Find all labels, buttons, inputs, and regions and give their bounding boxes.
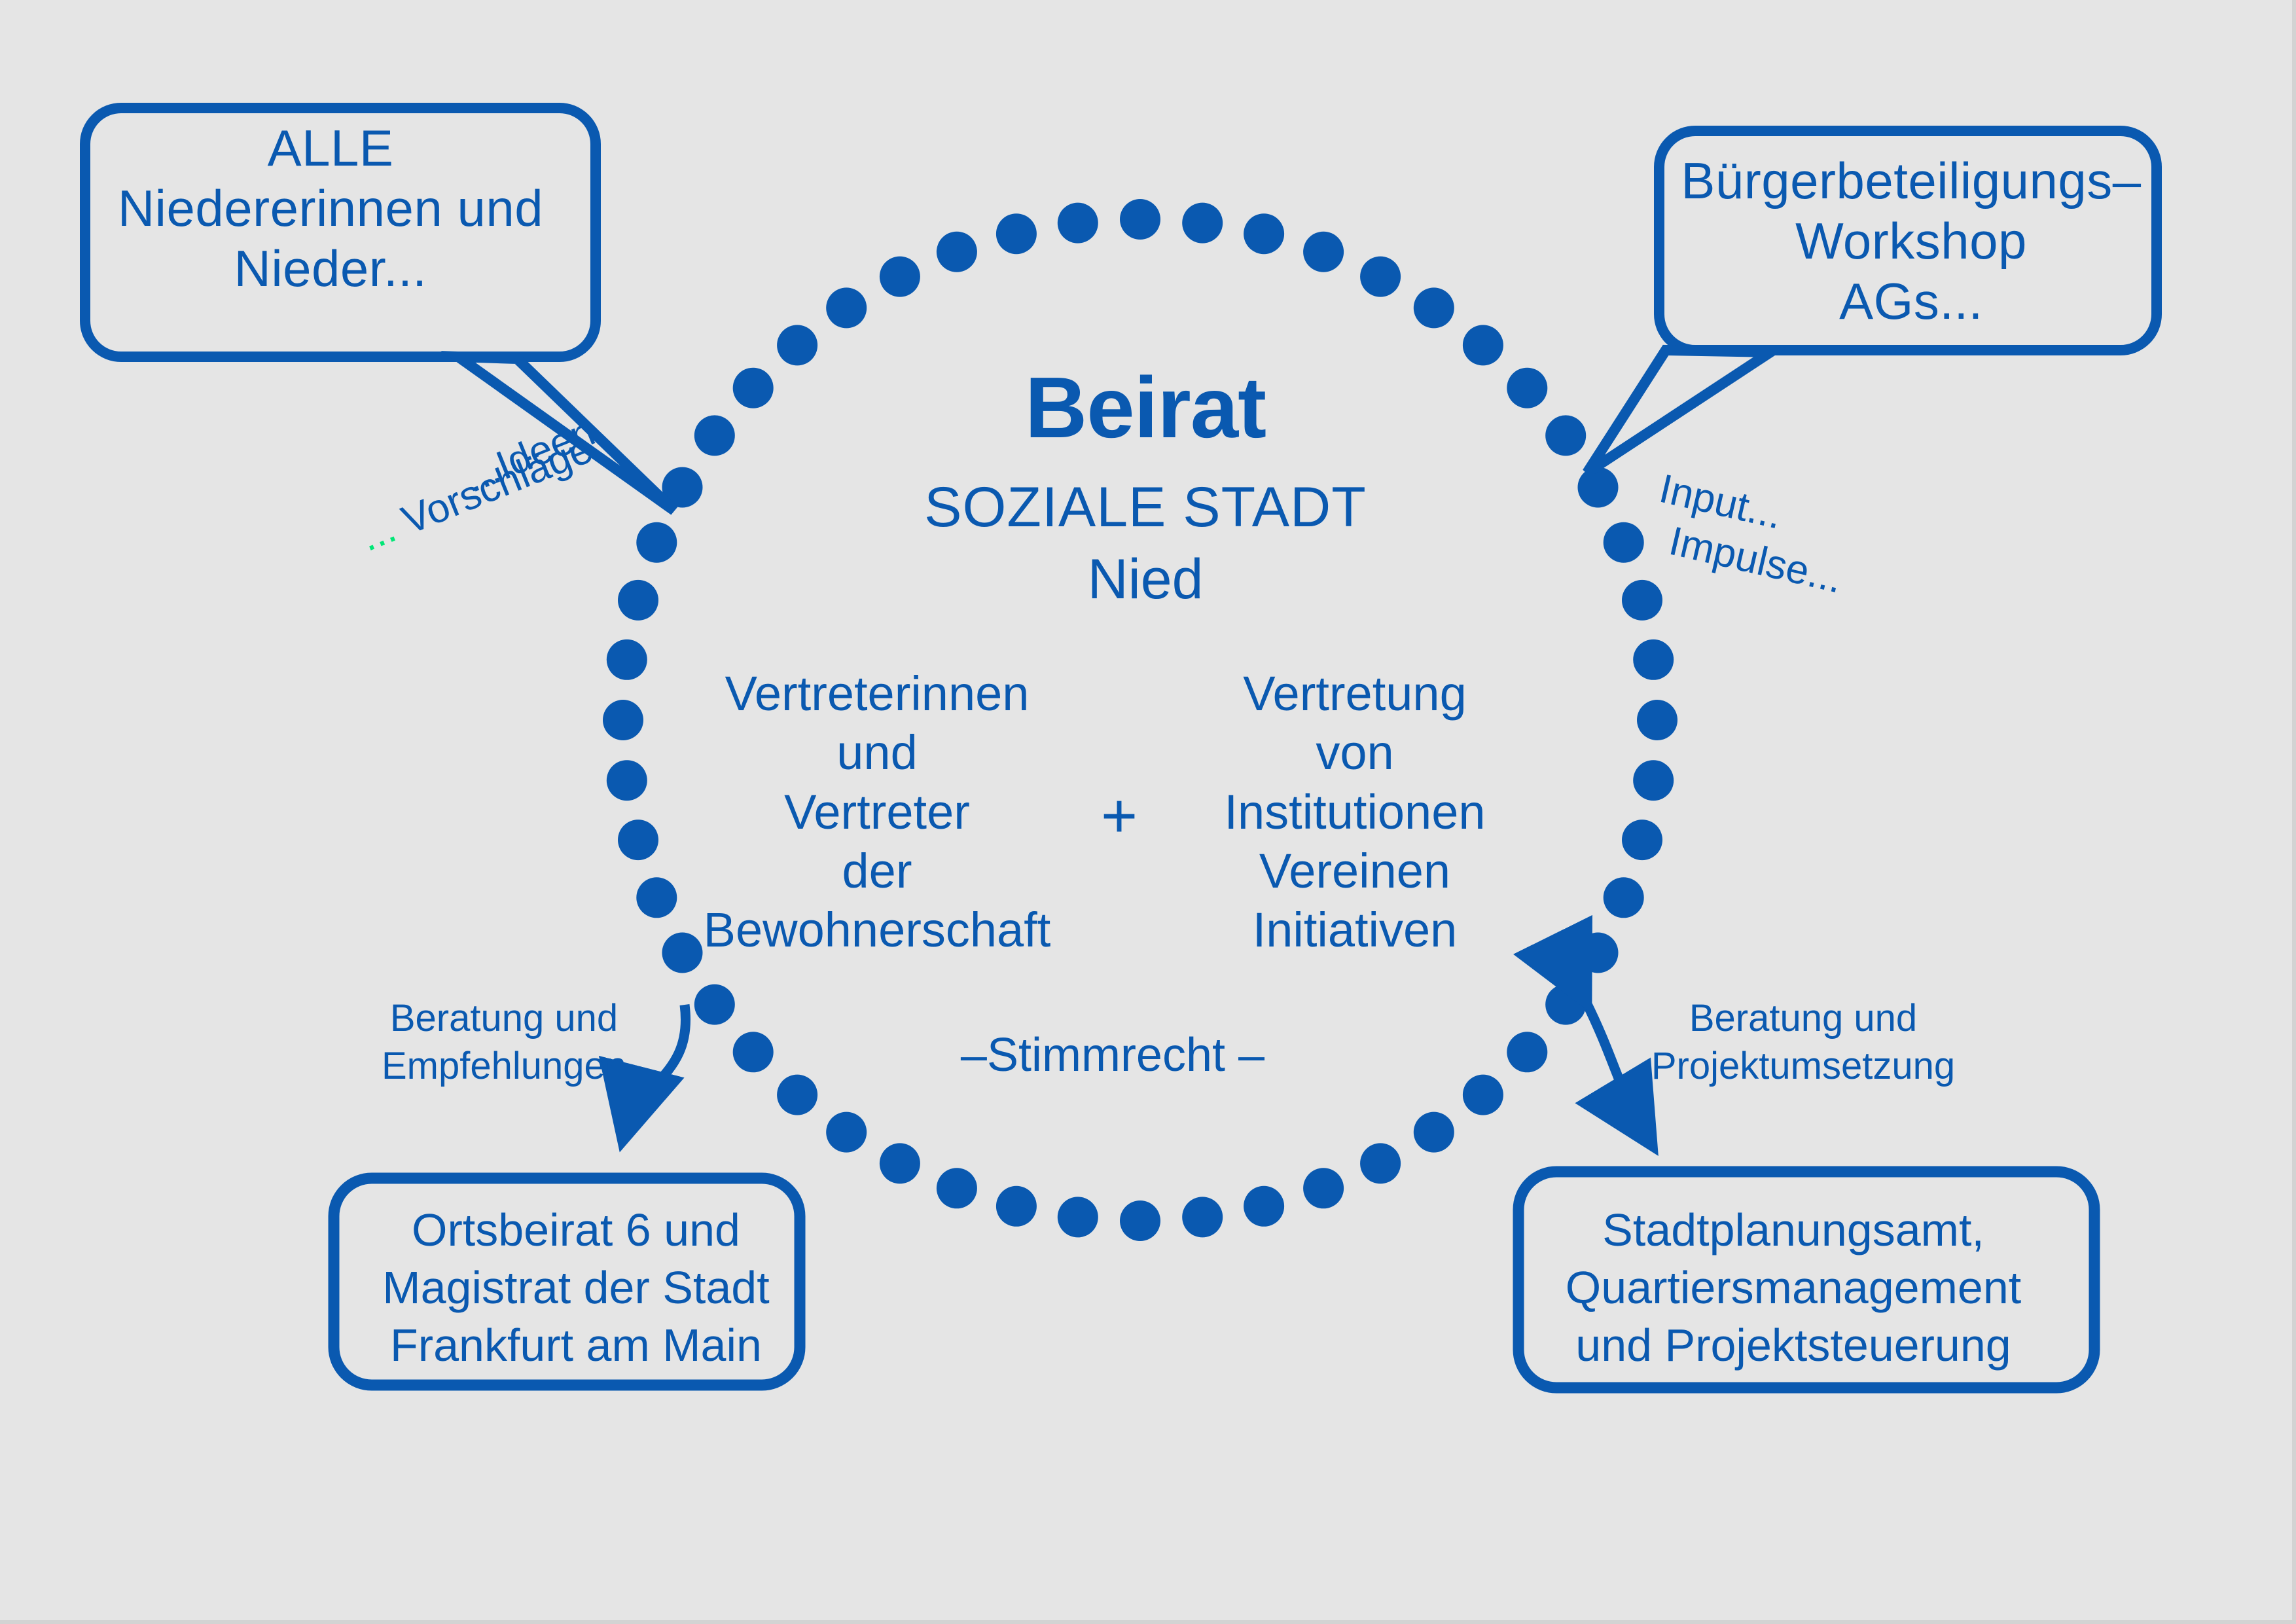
ring-dot <box>1303 1168 1344 1208</box>
ring-dot <box>1633 640 1674 680</box>
box-left-line1: Ortsbeirat 6 und <box>347 1201 805 1259</box>
speech-bubble-right-tail <box>1587 350 1770 473</box>
ring-dot <box>1360 1143 1401 1183</box>
page-title: Beirat <box>772 357 1518 459</box>
ring-dot <box>1120 199 1160 240</box>
bubble-right-line1: Bürgerbeteiligungs– <box>1676 151 2147 211</box>
ring-dot <box>777 1075 817 1115</box>
column-left-line-4: Bewohnerschaft <box>687 901 1067 960</box>
ring-dot <box>733 1032 774 1072</box>
ring-dot <box>1637 700 1677 740</box>
box-left-line2: Magistrat der Stadt <box>347 1259 805 1316</box>
speech-bubble-left-label: ALLE Niedererinnen und Nieder... <box>98 118 563 298</box>
beratung-projekt-line1: Beratung und <box>1649 995 1957 1043</box>
ring-dot <box>880 1143 920 1183</box>
ring-dot <box>1545 984 1586 1025</box>
column-left-line-1: und <box>687 723 1067 782</box>
box-ortsbeirat-label: Ortsbeirat 6 und Magistrat der Stadt Fra… <box>347 1201 805 1375</box>
ring-dot <box>1578 467 1619 508</box>
column-institutionen: Vertretung von Institutionen Vereinen In… <box>1172 664 1538 960</box>
ring-dot <box>1604 877 1644 918</box>
ring-dot <box>694 984 735 1025</box>
subtitle-nied: Nied <box>772 547 1518 613</box>
ring-dot <box>880 257 920 297</box>
ring-dot <box>1058 203 1098 244</box>
beratung-projekt-line2: Projektumsetzung <box>1649 1043 1957 1091</box>
ring-dot <box>1604 522 1644 563</box>
column-left-line-2: Vertreter <box>687 783 1067 842</box>
ring-dot <box>826 287 867 328</box>
beratung-empfehlungen-line2: Empfehlungen <box>367 1043 641 1091</box>
ring-dot <box>1633 760 1674 801</box>
ring-dot <box>1622 580 1662 621</box>
ring-dot <box>1182 203 1223 244</box>
ring-dot <box>603 700 643 740</box>
label-beratung-projektumsetzung: Beratung und Projektumsetzung <box>1649 995 1957 1090</box>
ring-dot <box>1414 1112 1454 1153</box>
ring-dot <box>937 1168 977 1208</box>
box-stadtplanungsamt-label: Stadtplanungsamt, Quartiersmanagement un… <box>1525 1201 2062 1375</box>
ring-dot <box>618 820 658 860</box>
box-right-line2: Quartiersmanagement <box>1525 1259 2062 1316</box>
arrow-beratung-projektumsetzung <box>1586 1001 1651 1144</box>
ring-dot <box>1622 820 1662 860</box>
ring-dot <box>636 877 677 918</box>
bubble-left-line1: ALLE <box>98 118 563 178</box>
ring-dot <box>1303 232 1344 272</box>
column-right-line-1: von <box>1172 723 1538 782</box>
ring-dot <box>1182 1197 1223 1237</box>
label-beratung-empfehlungen: Beratung und Empfehlungen <box>367 995 641 1090</box>
column-left-line-0: Vertreterinnen <box>687 664 1067 723</box>
stimmrecht-note: –Stimmrecht – <box>884 1028 1342 1083</box>
ring-dot <box>1578 933 1619 973</box>
ring-dot <box>694 415 735 456</box>
ring-dot <box>1120 1200 1160 1241</box>
bubble-right-line2: Workshop <box>1676 211 2147 271</box>
bubble-left-line3: Nieder... <box>98 238 563 298</box>
beratung-empfehlungen-line1: Beratung und <box>367 995 641 1043</box>
ring-dot <box>1463 1075 1503 1115</box>
ring-dot <box>1244 213 1284 254</box>
bubble-left-line2: Niedererinnen und <box>98 178 563 238</box>
plus-symbol: + <box>1073 779 1165 853</box>
speech-bubble-right-label: Bürgerbeteiligungs– Workshop AGs... <box>1676 151 2147 331</box>
ring-dot <box>1507 1032 1547 1072</box>
ring-dot <box>826 1112 867 1153</box>
ring-dot <box>1414 287 1454 328</box>
subtitle-soziale-stadt: SOZIALE STADT <box>772 475 1518 541</box>
bubble-right-line3: AGs... <box>1676 271 2147 331</box>
ring-dot <box>607 640 647 680</box>
box-left-line3: Frankfurt am Main <box>347 1316 805 1374</box>
column-right-line-0: Vertretung <box>1172 664 1538 723</box>
column-right-line-3: Vereinen <box>1172 842 1538 901</box>
ring-dot <box>937 232 977 272</box>
ring-dot <box>618 580 658 621</box>
ring-dot <box>1244 1186 1284 1227</box>
column-right-line-4: Initiativen <box>1172 901 1538 960</box>
ring-dot <box>636 522 677 563</box>
column-right-line-2: Institutionen <box>1172 783 1538 842</box>
ring-dot <box>1058 1197 1098 1237</box>
column-left-line-3: der <box>687 842 1067 901</box>
ring-dot <box>1545 415 1586 456</box>
box-right-line3: und Projektsteuerung <box>1525 1316 2062 1374</box>
ring-dot <box>733 368 774 408</box>
diagram-canvas: ALLE Niedererinnen und Nieder... Bürgerb… <box>0 0 2296 1624</box>
ring-dot <box>996 1186 1037 1227</box>
ring-dot <box>1360 257 1401 297</box>
ring-dot <box>607 760 647 801</box>
box-right-line1: Stadtplanungsamt, <box>1525 1201 2062 1259</box>
column-bewohnerschaft: Vertreterinnen und Vertreter der Bewohne… <box>687 664 1067 960</box>
ring-dot <box>996 213 1037 254</box>
